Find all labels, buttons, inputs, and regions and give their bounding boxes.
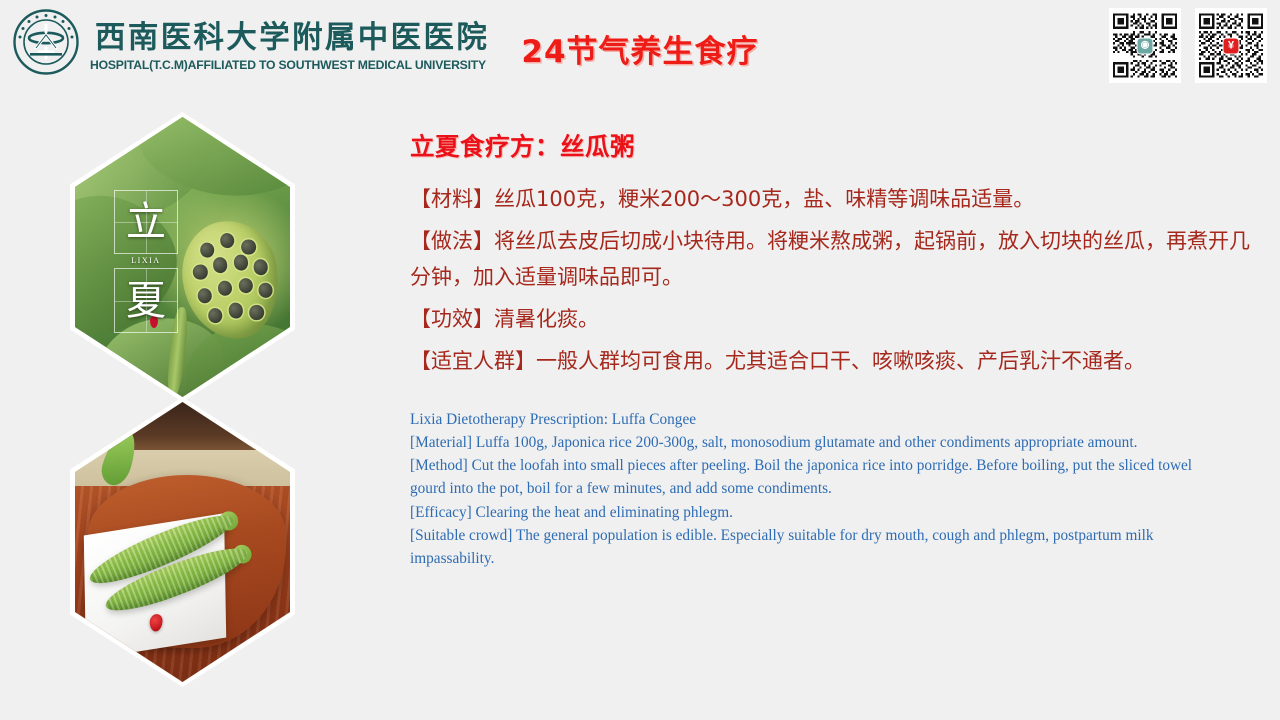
- background-shadow: [75, 402, 290, 450]
- hexagon-photo-clip: [75, 402, 290, 682]
- solar-term-pinyin: LIXIA: [114, 256, 179, 265]
- luffa-gourds-photo[interactable]: [70, 397, 295, 687]
- recipe-chinese-body: 【材料】丝瓜100克，粳米200～300克，盐、味精等调味品适量。 【做法】将丝…: [410, 181, 1256, 380]
- lotus-scene: 立 LIXIA 夏: [75, 117, 290, 397]
- lotus-seed-pod-photo[interactable]: 立 LIXIA 夏: [70, 112, 295, 402]
- recipe-line-method: 【做法】将丝瓜去皮后切成小块待用。将粳米熬成粥，起锅前，放入切块的丝瓜，再煮开几…: [410, 223, 1256, 295]
- yuan-payment-icon: ¥: [1223, 37, 1240, 54]
- red-seal-mark: [149, 613, 162, 632]
- page-title: 24节气养生食疗: [0, 26, 1280, 71]
- en-line-title: Lixia Dietotherapy Prescription: Luffa C…: [410, 408, 1225, 431]
- recipe-title: 立夏食疗方：丝瓜粥: [410, 128, 1256, 163]
- qr-code-group: ◉: [1109, 8, 1267, 83]
- lixia-calligraphy-overlay: 立 LIXIA 夏: [114, 190, 179, 333]
- recipe-content: 立夏食疗方：丝瓜粥 【材料】丝瓜100克，粳米200～300克，盐、味精等调味品…: [410, 128, 1256, 570]
- calligraphy-grid-box: 夏: [114, 268, 179, 333]
- recipe-line-material: 【材料】丝瓜100克，粳米200～300克，盐、味精等调味品适量。: [410, 181, 1256, 217]
- recipe-line-suitable-crowd: 【适宜人群】一般人群均可食用。尤其适合口干、咳嗽咳痰、产后乳汁不通者。: [410, 343, 1256, 379]
- en-line-efficacy: [Efficacy] Clearing the heat and elimina…: [410, 501, 1225, 524]
- wechat-logo-icon: ◉: [1137, 37, 1154, 54]
- en-line-material: [Material] Luffa 100g, Japonica rice 200…: [410, 431, 1225, 454]
- hexagon-image-gallery: 立 LIXIA 夏: [70, 112, 310, 682]
- wechat-official-account-qr[interactable]: ◉: [1109, 8, 1181, 83]
- recipe-line-efficacy: 【功效】清暑化痰。: [410, 301, 1256, 337]
- en-line-suitable-crowd: [Suitable crowd] The general population …: [410, 524, 1225, 571]
- calligraphy-grid-box: 立: [114, 190, 179, 255]
- recipe-english-body: Lixia Dietotherapy Prescription: Luffa C…: [410, 408, 1225, 571]
- solar-term-char-2: 夏: [126, 281, 166, 321]
- solar-term-char-1: 立: [126, 202, 166, 242]
- payment-qr[interactable]: ¥: [1195, 8, 1267, 83]
- luffa-scene: [75, 402, 290, 682]
- page-header: 西南医科大学附属中医医院 HOSPITAL(T.C.M)AFFILIATED T…: [0, 0, 1280, 92]
- hexagon-photo-clip: 立 LIXIA 夏: [75, 117, 290, 397]
- en-line-method: [Method] Cut the loofah into small piece…: [410, 454, 1225, 501]
